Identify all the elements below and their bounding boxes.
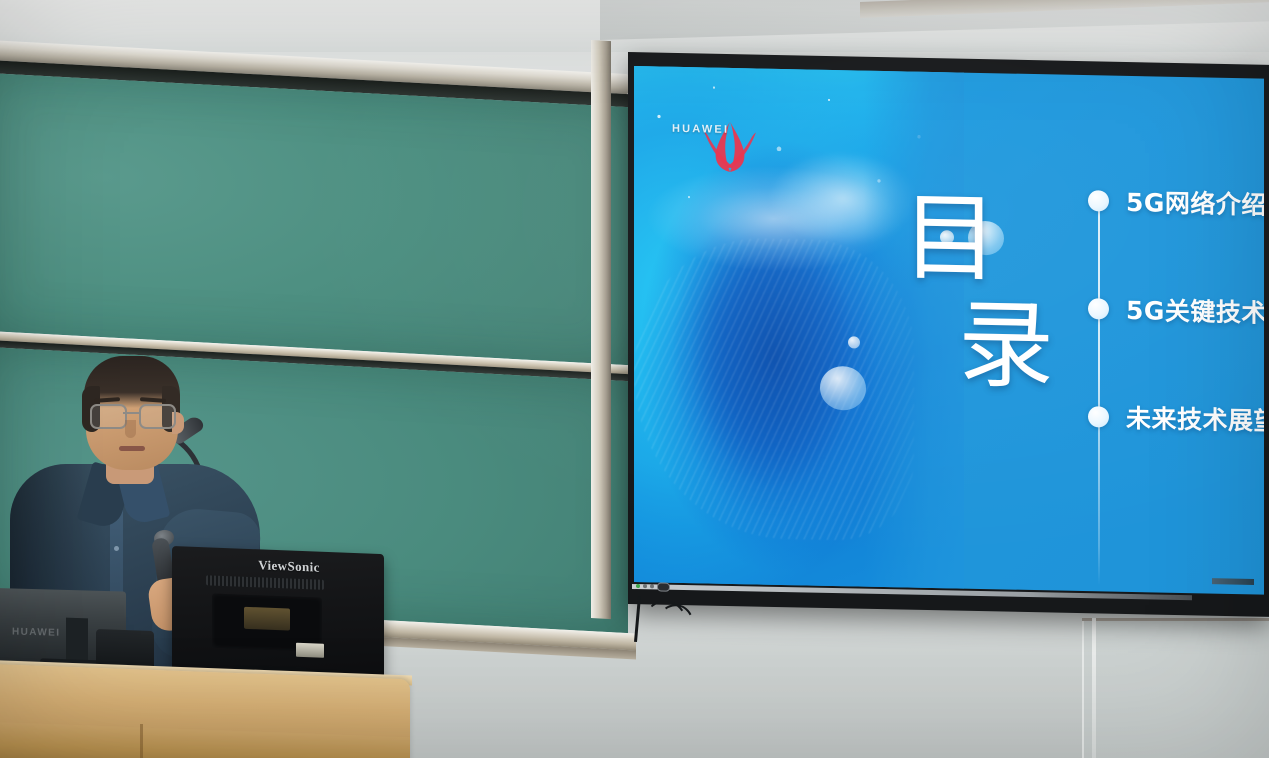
power-led-icon (636, 584, 640, 588)
monitor-sticker (296, 643, 324, 658)
toc-item-label: 5G关键技术 (1126, 291, 1264, 330)
slide-title-char-2: 录 (958, 297, 1056, 395)
monitor-vent (206, 575, 324, 590)
presenter-nose (125, 420, 136, 438)
toc-connector-line (1098, 195, 1100, 585)
display-brand-plate (1212, 578, 1254, 585)
bubble-small-2 (848, 336, 860, 348)
toc-item-label: 未来技术展望 (1126, 399, 1264, 438)
display-button-icon[interactable] (643, 584, 647, 588)
display-button-icon[interactable] (650, 584, 654, 588)
chalkboard-right-post (591, 40, 611, 619)
toc-bullet-icon (1088, 190, 1109, 211)
toc-bullet-icon (1088, 298, 1109, 319)
toc-item-3[interactable]: 未来技术展望 (1088, 401, 1264, 435)
lens-right (139, 404, 176, 429)
secondary-monitor-brand: HUAWEI (12, 626, 60, 638)
slide-title-char-1: 目 (902, 189, 1000, 287)
huawei-wordmark: HUAWEI (672, 123, 729, 136)
podium-monitor[interactable]: ViewSonic (172, 546, 384, 680)
podium-panel-seam (140, 724, 143, 758)
led-display[interactable]: HUAWEI 目 录 5G网络介绍 5G关键技术 (628, 52, 1269, 612)
glasses-bridge (123, 412, 139, 414)
wall-panel-right (1082, 618, 1269, 758)
toc-item-label: 5G网络介绍 (1126, 183, 1264, 222)
lens-left (90, 404, 127, 429)
lecture-hall-photo: HUAWEI 目 录 5G网络介绍 5G关键技术 (0, 0, 1269, 758)
shirt-button-icon (114, 546, 119, 551)
bubble-large-2 (820, 366, 866, 411)
power-button[interactable] (657, 582, 670, 591)
wall-panel-seam (1092, 618, 1096, 758)
toc-bullet-icon (1088, 406, 1109, 427)
presenter-mouth (119, 446, 145, 451)
display-screen[interactable]: HUAWEI 目 录 5G网络介绍 5G关键技术 (634, 66, 1264, 595)
toc-item-2[interactable]: 5G关键技术 (1088, 293, 1264, 327)
display-control-panel[interactable] (636, 580, 698, 593)
toc-list: 5G网络介绍 5G关键技术 未来技术展望 (1088, 181, 1264, 595)
chalkboard-panel-upper[interactable] (0, 73, 628, 365)
toc-item-1[interactable]: 5G网络介绍 (1088, 185, 1264, 219)
monitor-label-plate (244, 607, 290, 631)
podium-monitor-brand: ViewSonic (234, 556, 344, 576)
slide-title: 目 录 (902, 189, 1112, 423)
